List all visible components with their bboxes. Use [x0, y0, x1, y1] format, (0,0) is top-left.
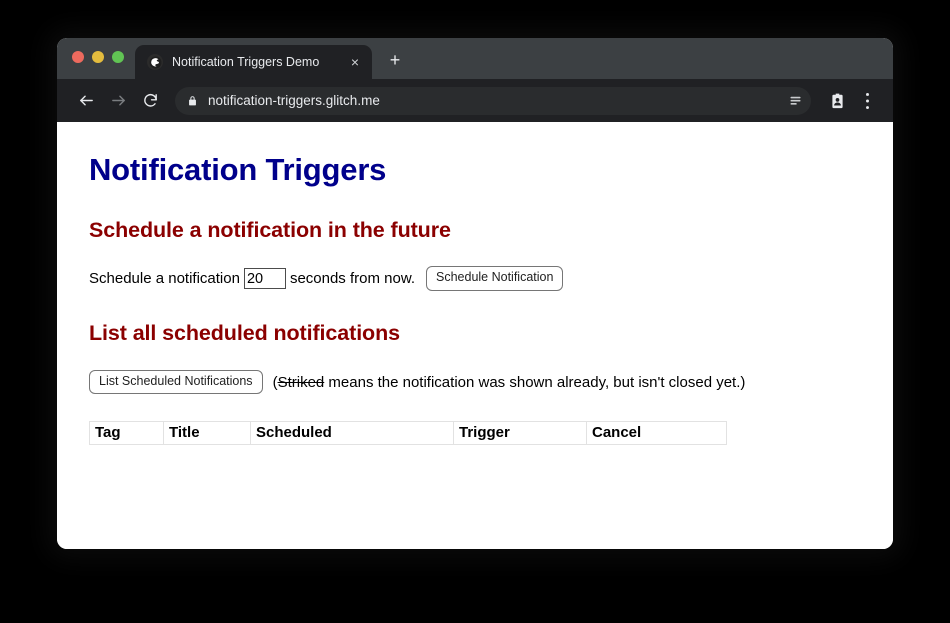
page-content: Notification Triggers Schedule a notific… [57, 122, 893, 549]
tab-title: Notification Triggers Demo [172, 55, 337, 69]
schedule-label-after: seconds from now. [290, 270, 415, 287]
schedule-form-row: Schedule a notification seconds from now… [89, 266, 861, 291]
scheduled-notifications-table: Tag Title Scheduled Trigger Cancel [89, 421, 727, 445]
close-icon[interactable]: × [346, 53, 364, 71]
address-bar-url: notification-triggers.glitch.me [208, 93, 776, 108]
page-title: Notification Triggers [89, 152, 861, 188]
browser-window: Notification Triggers Demo × + [57, 38, 893, 549]
new-tab-button[interactable]: + [382, 47, 408, 73]
three-dot-menu-icon[interactable] [853, 87, 881, 115]
column-header-cancel: Cancel [587, 422, 727, 445]
minimize-window-button[interactable] [92, 51, 104, 63]
browser-toolbar: notification-triggers.glitch.me [57, 79, 893, 122]
seconds-input[interactable] [244, 268, 286, 289]
lock-icon [187, 95, 199, 107]
column-header-scheduled: Scheduled [251, 422, 454, 445]
list-scheduled-notifications-button[interactable]: List Scheduled Notifications [89, 370, 263, 395]
table-header-row: Tag Title Scheduled Trigger Cancel [90, 422, 727, 445]
globe-icon [147, 54, 163, 70]
desktop-background: Notification Triggers Demo × + [0, 0, 950, 623]
note-rest: means the notification was shown already… [324, 374, 745, 391]
profile-card-icon[interactable] [823, 87, 851, 115]
column-header-title: Title [164, 422, 251, 445]
tab-strip: Notification Triggers Demo × + [57, 38, 893, 79]
maximize-window-button[interactable] [112, 51, 124, 63]
schedule-notification-button[interactable]: Schedule Notification [426, 266, 563, 291]
reload-icon[interactable] [135, 86, 165, 116]
column-header-tag: Tag [90, 422, 164, 445]
list-controls-row: List Scheduled Notifications (Striked me… [89, 370, 861, 395]
schedule-label-before: Schedule a notification [89, 270, 240, 287]
note-struck-word: Striked [278, 374, 325, 391]
column-header-trigger: Trigger [454, 422, 587, 445]
strike-legend-note: (Striked means the notification was show… [273, 374, 746, 391]
close-window-button[interactable] [72, 51, 84, 63]
forward-icon[interactable] [103, 86, 133, 116]
browser-tab[interactable]: Notification Triggers Demo × [135, 45, 372, 79]
list-section-heading: List all scheduled notifications [89, 321, 861, 347]
window-controls [72, 51, 124, 63]
schedule-section-heading: Schedule a notification in the future [89, 218, 861, 244]
back-icon[interactable] [71, 86, 101, 116]
address-bar[interactable]: notification-triggers.glitch.me [175, 87, 811, 115]
reading-list-icon[interactable] [785, 93, 805, 108]
